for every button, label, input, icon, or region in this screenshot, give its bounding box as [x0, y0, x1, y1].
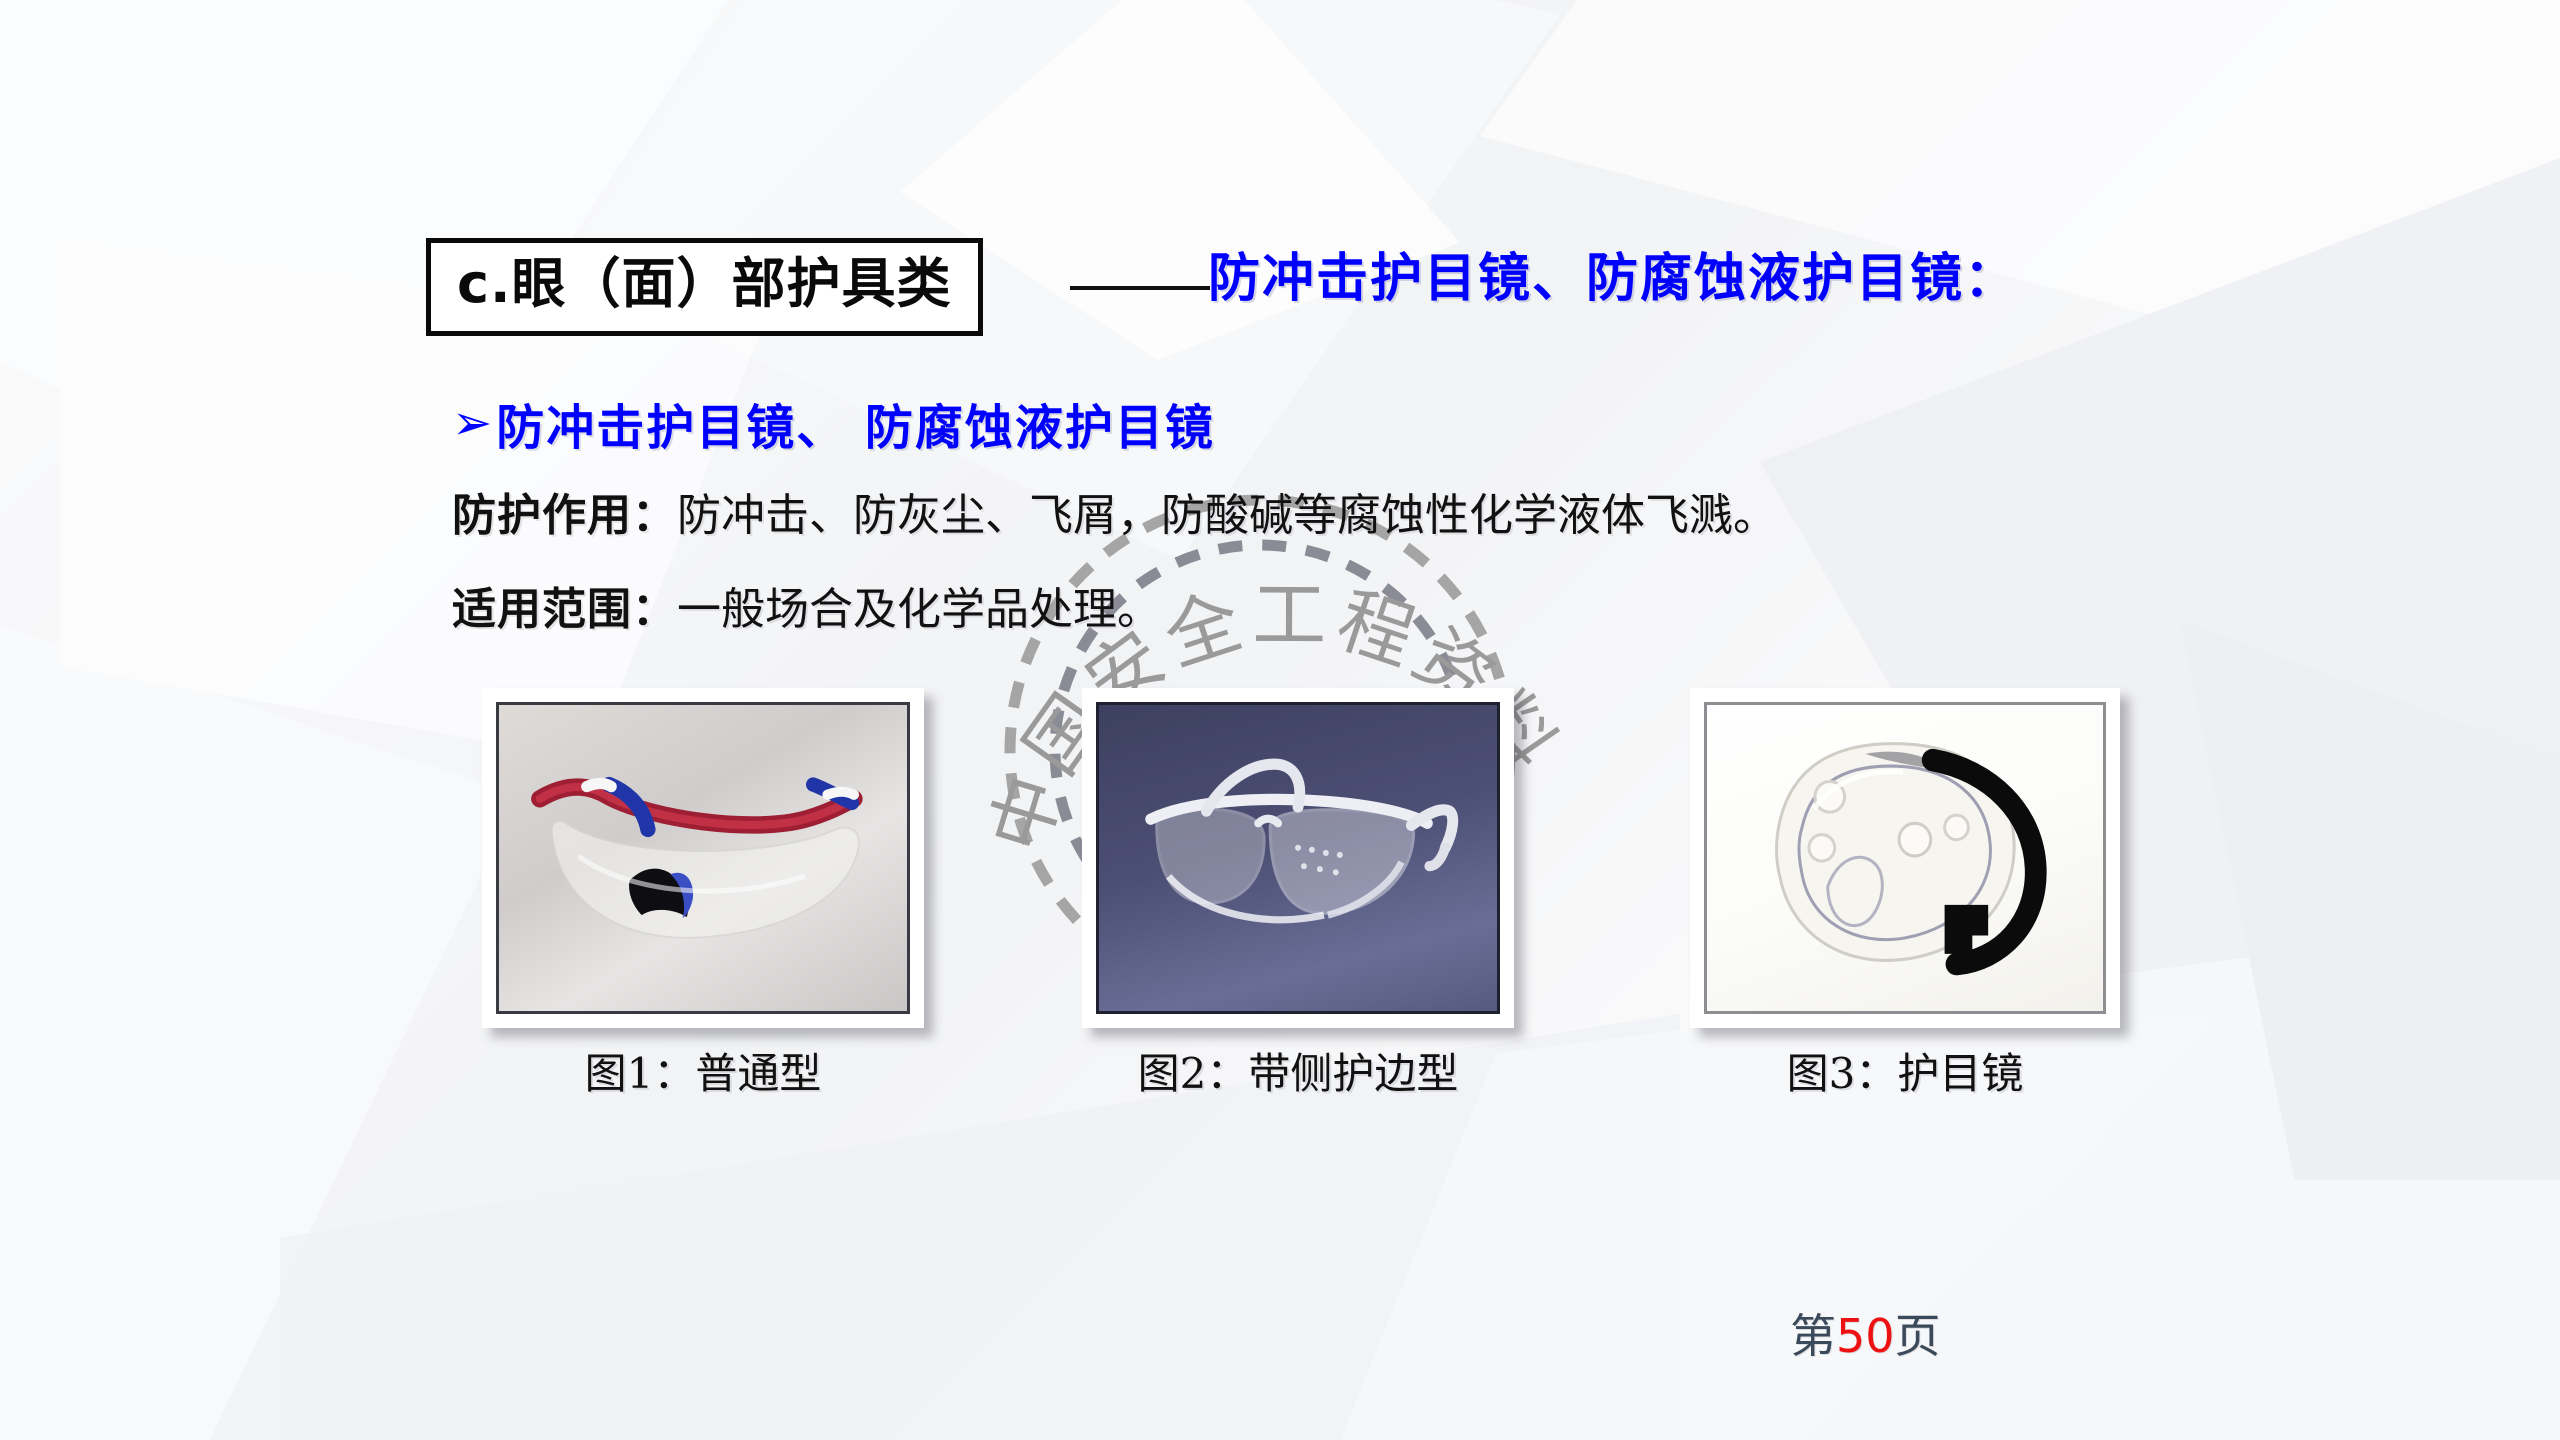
figure-2-frame: [1082, 688, 1514, 1028]
page-number-suffix: 页: [1895, 1309, 1941, 1363]
figure-1-photo: [496, 702, 910, 1014]
connector-line: [1070, 286, 1210, 290]
category-title-text: c.眼（面）部护具类: [457, 257, 952, 311]
figure-3-frame: [1690, 688, 2120, 1028]
application-scope-value: 一般场合及化学品处理。: [677, 584, 1161, 635]
slide-canvas: 中国安全工程资料库 c.眼（面）部护具类 防冲击护目镜、防腐蚀液护目镜： ➢ 防…: [0, 0, 2560, 1440]
safety-spectacles-icon: [499, 705, 907, 1011]
figure-1-caption: 图1：普通型: [482, 1040, 924, 1101]
figure-3-caption: 图3：护目镜: [1690, 1040, 2120, 1101]
figure-1: 图1：普通型: [482, 688, 924, 1028]
figure-2-photo: [1096, 702, 1500, 1014]
bullet-arrow-icon: ➢: [452, 399, 492, 447]
figure-2: 图2：带侧护边型: [1082, 688, 1514, 1028]
protection-function-line: 防护作用：防冲击、防灰尘、飞屑，防酸碱等腐蚀性化学液体飞溅。: [452, 492, 1777, 540]
figure-1-frame: [482, 688, 924, 1028]
application-scope-line: 适用范围：一般场合及化学品处理。: [452, 586, 1161, 634]
side-shield-spectacles-icon: [1099, 705, 1497, 1011]
bullet-item-label: 防冲击护目镜、 防腐蚀液护目镜: [496, 388, 1215, 458]
bullet-item: ➢ 防冲击护目镜、 防腐蚀液护目镜: [452, 388, 1215, 458]
page-number: 第50页: [1790, 1300, 1941, 1366]
figure-2-caption: 图2：带侧护边型: [1046, 1040, 1550, 1101]
chemical-splash-goggles-icon: [1707, 705, 2103, 1011]
protection-function-value: 防冲击、防灰尘、飞屑，防酸碱等腐蚀性化学液体飞溅。: [677, 490, 1777, 541]
page-number-prefix: 第: [1790, 1309, 1836, 1363]
page-number-value: 50: [1836, 1309, 1895, 1363]
figure-3-photo: [1704, 702, 2106, 1014]
application-scope-label: 适用范围：: [452, 584, 677, 635]
figure-3: 图3：护目镜: [1690, 688, 2120, 1028]
protection-function-label: 防护作用：: [452, 490, 677, 541]
category-title-box: c.眼（面）部护具类: [426, 238, 983, 336]
section-heading: 防冲击护目镜、防腐蚀液护目镜：: [1208, 248, 2018, 310]
